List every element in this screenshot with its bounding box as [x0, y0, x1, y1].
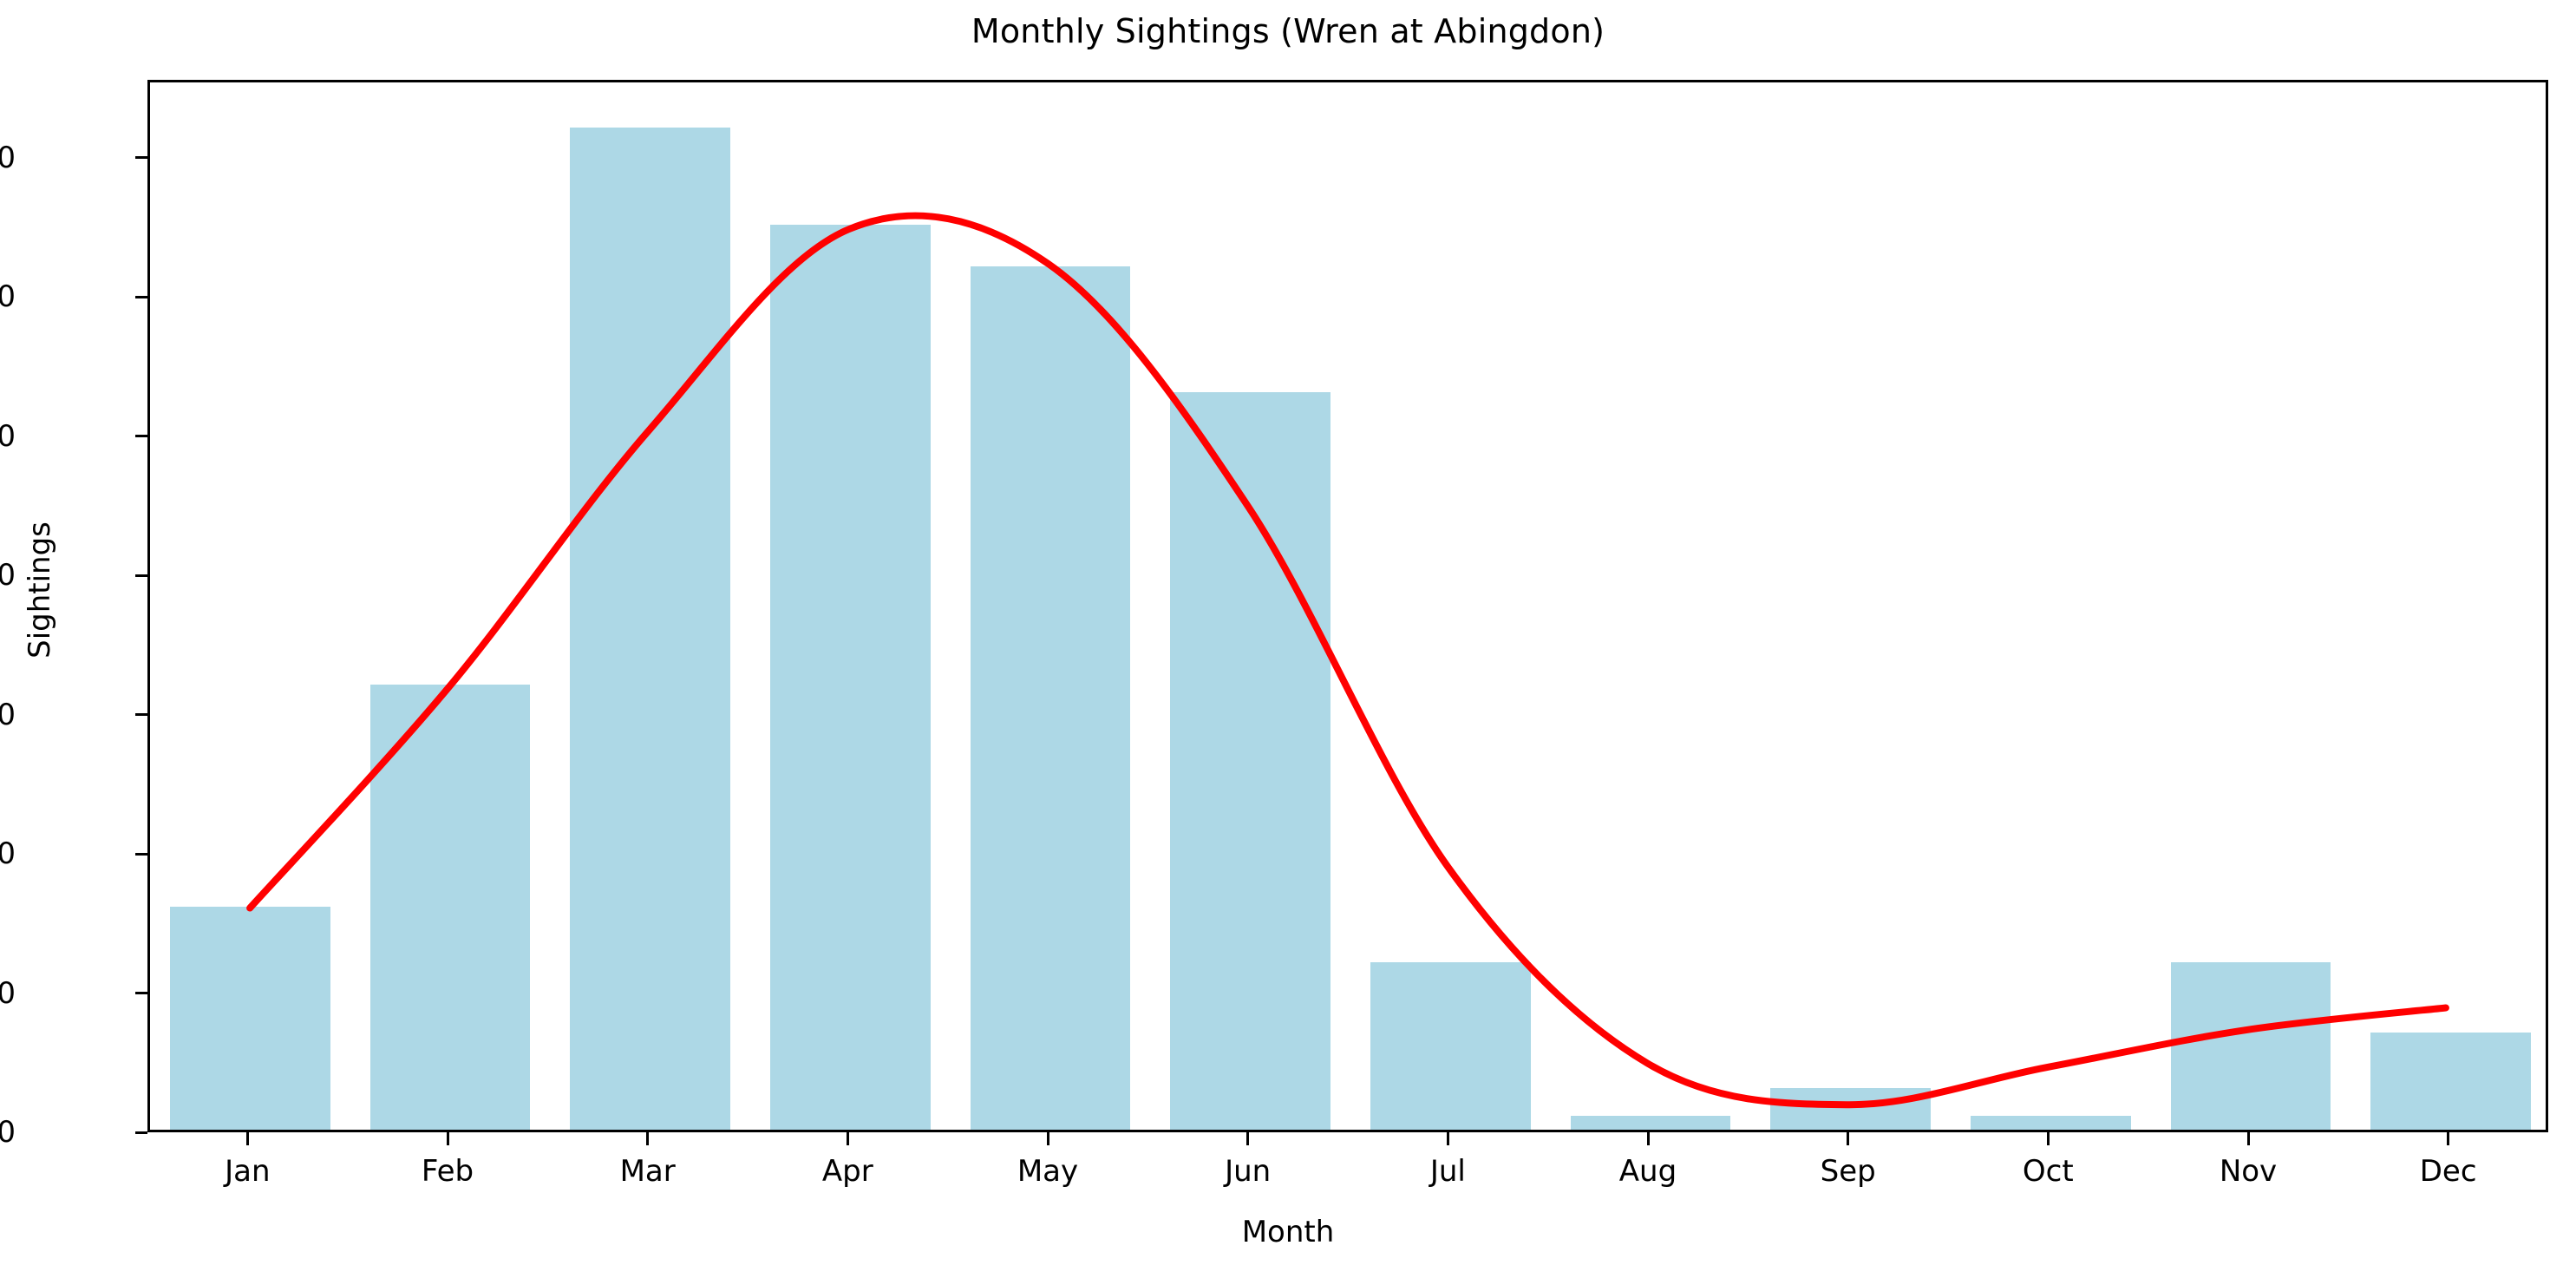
x-tick-mark [1847, 1132, 1849, 1145]
bar-dec [2370, 1033, 2531, 1130]
bar-nov [2171, 962, 2331, 1130]
x-tick-mark [246, 1132, 249, 1145]
bar-apr [770, 225, 931, 1130]
chart-figure: Monthly Sightings (Wren at Abingdon) Sig… [0, 0, 2576, 1272]
bar-aug [1571, 1116, 1731, 1130]
bar-feb [370, 685, 531, 1130]
bar-sep [1770, 1088, 1931, 1130]
bar-jan [170, 907, 330, 1130]
y-tick-label: 70 [0, 141, 24, 175]
x-tick-mark [2447, 1132, 2449, 1145]
y-tick-mark [135, 435, 147, 437]
bar-oct [1971, 1116, 2131, 1130]
y-tick-label: 10 [0, 976, 24, 1011]
y-tick-mark [135, 713, 147, 716]
bar-series [150, 82, 2546, 1130]
bar-mar [570, 128, 730, 1130]
bar-jun [1170, 392, 1330, 1130]
y-tick-label: 60 [0, 279, 24, 314]
x-tick-label-may: May [952, 1154, 1143, 1189]
x-tick-label-mar: Mar [552, 1154, 743, 1189]
bar-jul [1370, 962, 1531, 1130]
plot-area [147, 80, 2548, 1132]
x-tick-mark [447, 1132, 449, 1145]
x-tick-label-feb: Feb [352, 1154, 543, 1189]
x-tick-mark [1447, 1132, 1449, 1145]
x-tick-mark [646, 1132, 649, 1145]
x-tick-label-nov: Nov [2153, 1154, 2344, 1189]
y-axis-label: Sightings [23, 503, 57, 677]
x-tick-mark [1647, 1132, 1650, 1145]
x-tick-label-aug: Aug [1553, 1154, 1743, 1189]
chart-title: Monthly Sightings (Wren at Abingdon) [0, 12, 2576, 50]
y-tick-mark [135, 992, 147, 994]
x-tick-label-jun: Jun [1153, 1154, 1344, 1189]
y-tick-label: 20 [0, 836, 24, 871]
x-tick-mark [1246, 1132, 1249, 1145]
bar-may [971, 266, 1131, 1130]
y-tick-label: 30 [0, 698, 24, 732]
x-tick-label-jul: Jul [1352, 1154, 1543, 1189]
x-tick-mark [1047, 1132, 1049, 1145]
x-tick-label-oct: Oct [1952, 1154, 2143, 1189]
y-tick-label: 0 [0, 1115, 24, 1150]
x-axis-label: Month [0, 1215, 2576, 1249]
x-tick-label-sep: Sep [1753, 1154, 1944, 1189]
y-tick-mark [135, 853, 147, 856]
y-tick-label: 50 [0, 419, 24, 454]
x-tick-label-dec: Dec [2353, 1154, 2544, 1189]
y-tick-mark [135, 156, 147, 159]
y-tick-mark [135, 1131, 147, 1134]
y-tick-mark [135, 574, 147, 577]
x-tick-mark [2247, 1132, 2250, 1145]
y-tick-mark [135, 296, 147, 298]
y-tick-label: 40 [0, 558, 24, 593]
x-tick-label-apr: Apr [752, 1154, 943, 1189]
x-tick-mark [2047, 1132, 2050, 1145]
x-tick-mark [847, 1132, 849, 1145]
x-tick-label-jan: Jan [152, 1154, 343, 1189]
